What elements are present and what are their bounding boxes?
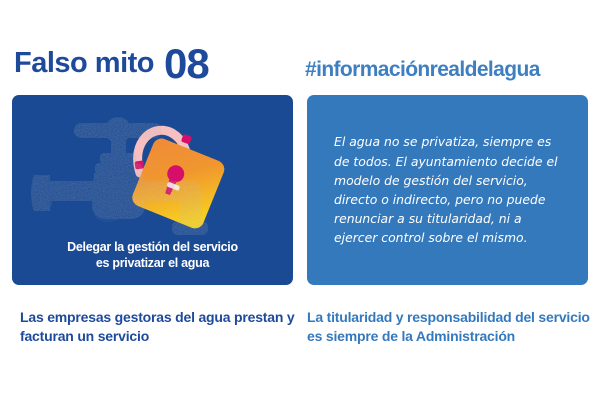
myth-title-label: Falso mito (14, 49, 154, 78)
myth-number: 08 (164, 43, 209, 85)
fact-card: El agua no se privatiza, siempre es de t… (307, 95, 588, 285)
padlock-graphic (130, 130, 227, 231)
faucet-with-padlock-illustration (12, 101, 293, 241)
fact-quote-text: El agua no se privatiza, siempre es de t… (307, 132, 588, 247)
footer-fact-statement: La titularidad y responsabilidad del ser… (307, 308, 592, 345)
card-caption: Delegar la gestión del servicio es priva… (12, 239, 293, 271)
infographic-poster: Falso mito 08 #informaciónrealdelagua (0, 0, 600, 400)
card-caption-line-1: Delegar la gestión del servicio (26, 239, 279, 255)
myth-card: Delegar la gestión del servicio es priva… (12, 95, 293, 285)
footer-myth-statement: Las empresas gestoras del agua prestan y… (20, 308, 298, 345)
myth-title: Falso mito 08 (14, 42, 209, 84)
campaign-hashtag: #informaciónrealdelagua (305, 58, 540, 82)
card-caption-line-2: es privatizar el agua (26, 255, 279, 271)
